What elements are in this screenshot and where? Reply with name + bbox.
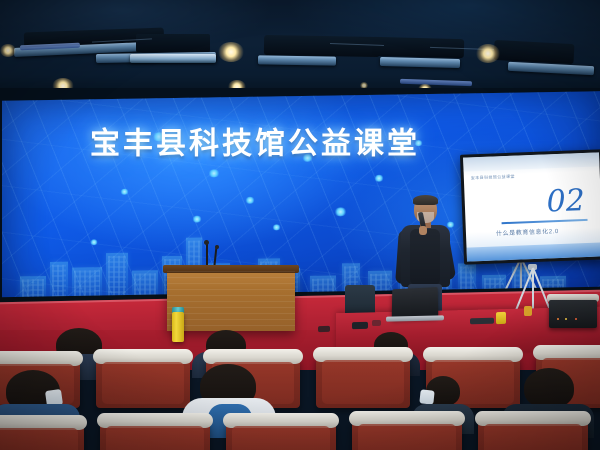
seat[interactable] [316, 354, 410, 408]
podium-microphone-head [215, 245, 219, 249]
slide-header-band [463, 152, 599, 171]
backdrop-headline: 宝丰县科技馆公益课堂 [90, 119, 420, 163]
spotlight [218, 42, 244, 62]
slide-subtitle: 什么是教育信息化2.0 [496, 226, 559, 237]
lighting-truss-6 [508, 62, 594, 75]
presentation-slide: 宝丰县科技馆公益课堂 02 什么是教育信息化2.0 [463, 152, 600, 261]
wooden-lectern [167, 271, 295, 331]
speaker-hand [419, 226, 427, 235]
seat-back-panel [232, 426, 330, 450]
lectern-wood-grain [167, 271, 295, 331]
slide-header-text: 宝丰县科技馆公益课堂 [471, 174, 515, 182]
lighting-truss-3 [130, 54, 216, 63]
slide-footer-band [467, 242, 600, 261]
slide-number: 02 [546, 183, 586, 219]
seat[interactable] [478, 418, 588, 450]
ceiling-led-strip [400, 79, 472, 87]
ceiling-beam [136, 34, 210, 52]
table-device [372, 320, 381, 326]
spotlight [476, 44, 500, 63]
seat-back-panel [0, 428, 78, 450]
table-device [352, 322, 368, 329]
skyline-building [106, 253, 128, 301]
table-cable [470, 318, 494, 325]
laptop-screen [392, 287, 439, 319]
seat-back-panel [106, 426, 204, 450]
seat[interactable] [100, 420, 210, 450]
seat-back-panel [322, 360, 404, 404]
slide-divider [502, 219, 588, 224]
lighting-truss-5 [380, 57, 460, 68]
lighting-truss-4 [258, 55, 336, 65]
seat-back-panel [358, 424, 456, 450]
audio-amplifier [549, 300, 597, 328]
amplifier-indicator-light [575, 318, 577, 320]
ceiling-beam [494, 40, 575, 64]
speaker-vest [410, 229, 440, 285]
seat[interactable] [352, 418, 462, 450]
amplifier-indicator-light [565, 318, 567, 320]
presentation-display: 宝丰县科技馆公益课堂 02 什么是教育信息化2.0 [460, 149, 600, 264]
seat[interactable] [0, 422, 84, 450]
table-device [318, 326, 330, 332]
ceiling [0, 0, 600, 96]
lecture-hall-photo: 宝丰县科技馆公益课堂 宝丰县科技馆公益课堂 02 什么是教育信息化2.0 [0, 0, 600, 450]
speaker-hair [413, 195, 438, 205]
spotlight [0, 44, 16, 57]
table-yellow-item [524, 306, 532, 316]
seat[interactable] [96, 356, 190, 408]
yellow-thermos-bottle [172, 312, 184, 342]
ceiling-beam [264, 35, 380, 57]
seat-back-panel [102, 362, 184, 404]
table-yellow-item [496, 312, 506, 324]
podium-microphone-head [204, 240, 209, 245]
amplifier-indicator-light [557, 318, 559, 320]
face-mask [419, 389, 434, 404]
seat-back-panel [484, 424, 582, 450]
seat[interactable] [226, 420, 336, 450]
audience-head [524, 368, 574, 408]
